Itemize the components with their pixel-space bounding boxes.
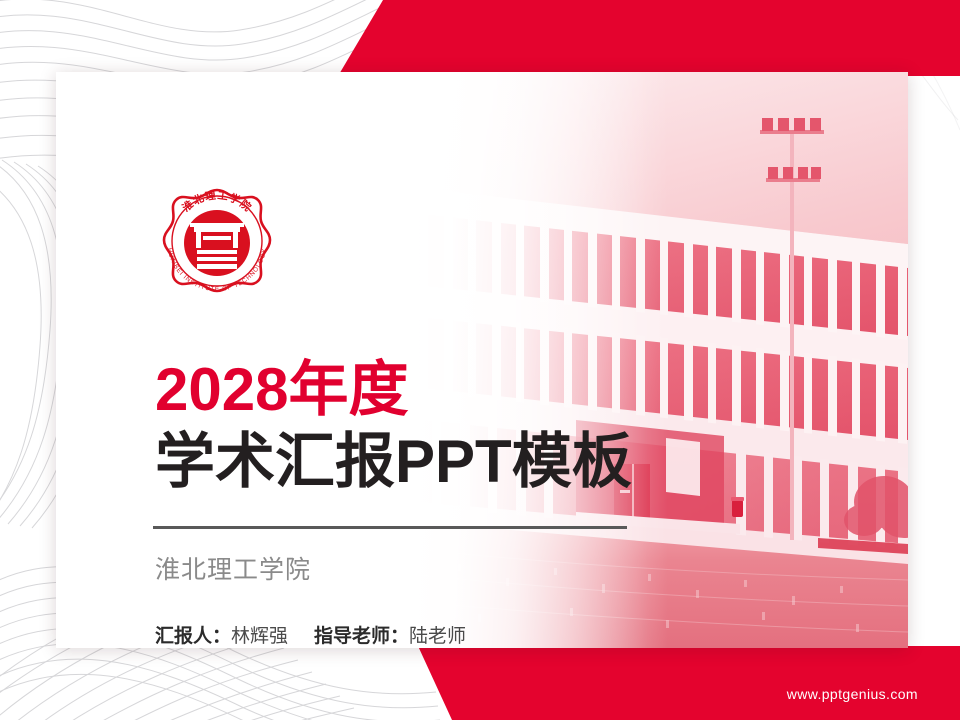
title-main-line: 学术汇报PPT模板 bbox=[155, 430, 715, 494]
title-year-line: 2028年度 bbox=[155, 360, 715, 420]
presenter-info-row: 汇报人：林辉强指导老师：陆老师 bbox=[155, 621, 466, 648]
advisor-label: 指导老师： bbox=[314, 626, 409, 647]
university-name-subtitle: 淮北理工学院 bbox=[155, 550, 311, 586]
footer-watermark-url[interactable]: www.pptgenius.com bbox=[787, 686, 918, 702]
title-block: 2028年度 学术汇报PPT模板 bbox=[155, 360, 715, 494]
slide-content-card: 淮北理工学院 HUAIBEI INSTITUTE OF TECHNOLOGY 2… bbox=[56, 72, 908, 648]
bottom-red-wedge bbox=[418, 646, 960, 720]
presentation-slide: 淮北理工学院 HUAIBEI INSTITUTE OF TECHNOLOGY 2… bbox=[0, 0, 960, 720]
top-red-wedge bbox=[338, 0, 960, 76]
reporter-label: 汇报人： bbox=[155, 626, 231, 647]
advisor-name: 陆老师 bbox=[409, 626, 466, 647]
reporter-name: 林辉强 bbox=[231, 626, 288, 647]
title-divider-rule bbox=[153, 526, 627, 529]
university-logo-icon: 淮北理工学院 HUAIBEI INSTITUTE OF TECHNOLOGY bbox=[156, 180, 278, 302]
